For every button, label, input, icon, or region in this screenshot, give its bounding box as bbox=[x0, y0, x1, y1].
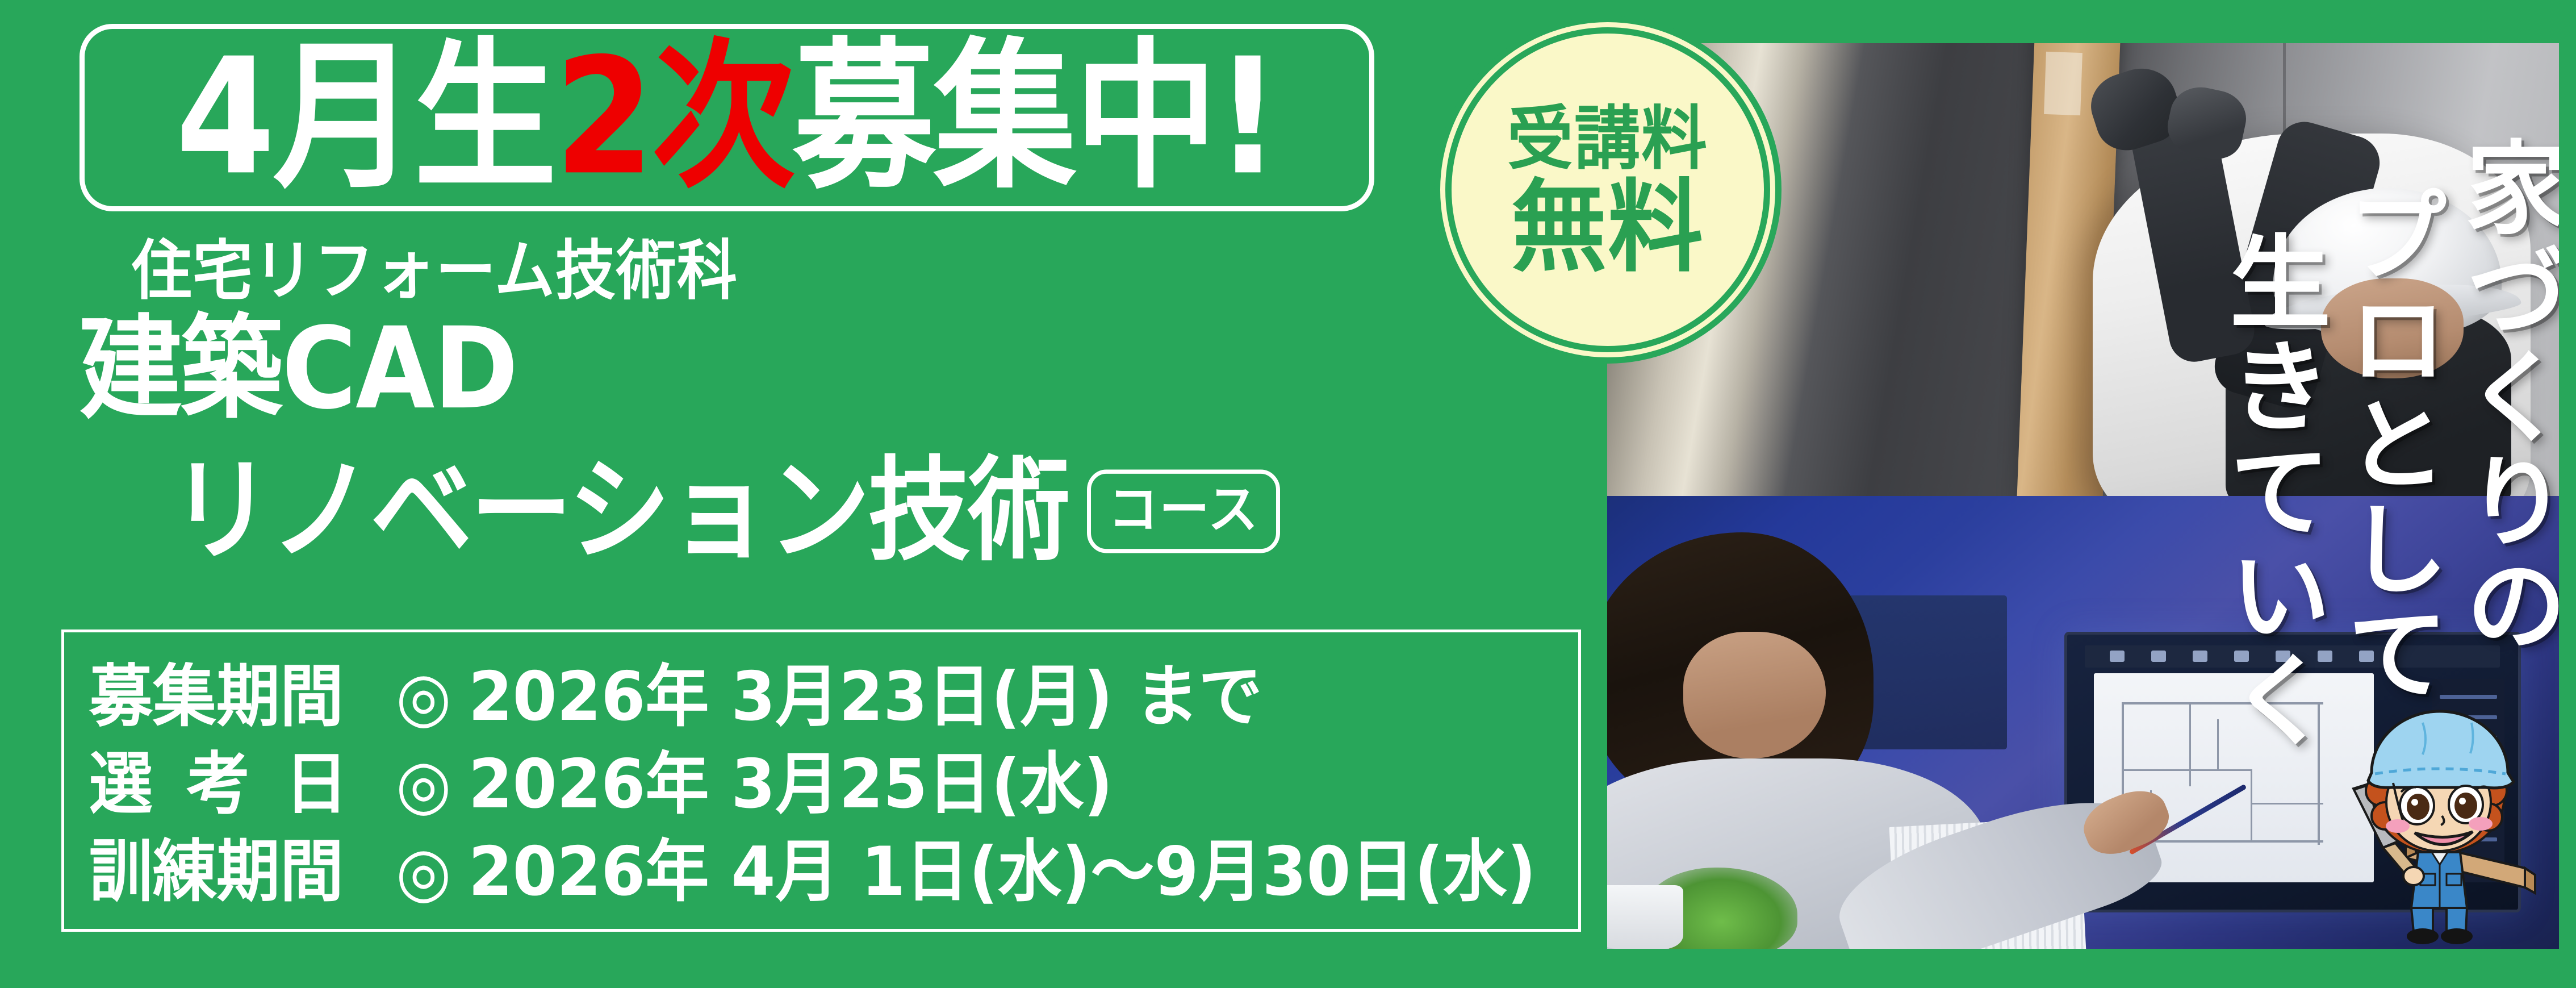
toolbar-icon bbox=[2276, 651, 2290, 662]
floorplan-line bbox=[2251, 803, 2323, 804]
headline-accent: 2次 bbox=[555, 24, 793, 210]
floorplan-line bbox=[2189, 702, 2191, 786]
schedule-label-application: 募集期間 bbox=[89, 657, 396, 737]
desk-cup bbox=[1607, 885, 1683, 949]
free-tuition-badge: 受講料 無料 bbox=[1445, 27, 1770, 352]
course-title-line2-wrap: リノベーション技術 コース bbox=[170, 460, 1280, 562]
mascot-body bbox=[2403, 852, 2473, 944]
schedule-value-selection: 2026年 3月25日(水) bbox=[469, 745, 1113, 824]
schedule-value-training: 2026年 4月 1日(水)〜9月30日(水) bbox=[469, 832, 1536, 912]
floorplan-line bbox=[2122, 769, 2251, 771]
course-title-line1: 建築CAD bbox=[80, 313, 517, 426]
toolbar-icon bbox=[2359, 651, 2374, 662]
promo-banner: 4月生2次募集中! 住宅リフォーム技術科 建築CAD リノベーション技術 コース… bbox=[0, 0, 2576, 988]
headline-part2: 募集中! bbox=[793, 24, 1278, 210]
bullet-icon: ◎ bbox=[396, 745, 451, 824]
mascot-blush-left bbox=[2386, 819, 2410, 833]
schedule-row-selection: 選考日 ◎ 2026年 3月25日(水) bbox=[89, 745, 1578, 824]
free-badge-top-label: 受講料 bbox=[1507, 103, 1708, 176]
course-title-line2: リノベーション技術 bbox=[170, 455, 1068, 568]
schedule-label-selection: 選考日 bbox=[89, 745, 396, 824]
bullet-icon: ◎ bbox=[396, 832, 451, 912]
mascot-blush-right bbox=[2469, 817, 2493, 831]
worker-face bbox=[2321, 278, 2464, 378]
cad-toolbar bbox=[2085, 645, 2500, 668]
schedule-label-training: 訓練期間 bbox=[89, 832, 396, 912]
course-type-badge: コース bbox=[1087, 470, 1280, 553]
schedule-info-box: 募集期間 ◎ 2026年 3月23日(月) まで 選考日 ◎ 2026年 3月2… bbox=[61, 630, 1581, 932]
headline-text: 4月生2次募集中! bbox=[175, 37, 1278, 198]
floorplan-line bbox=[2122, 702, 2323, 704]
toolbar-icon bbox=[2234, 651, 2249, 662]
schedule-row-application: 募集期間 ◎ 2026年 3月23日(月) まで bbox=[89, 657, 1578, 737]
schedule-row-training: 訓練期間 ◎ 2026年 4月 1日(水)〜9月30日(水) bbox=[89, 832, 1578, 912]
bullet-icon: ◎ bbox=[396, 657, 451, 737]
carpenter-girl-mascot bbox=[2337, 687, 2542, 949]
headline-box: 4月生2次募集中! bbox=[80, 24, 1374, 211]
toolbar-icon bbox=[2151, 651, 2166, 662]
floorplan-line bbox=[2217, 719, 2219, 769]
headline-part1: 4月生 bbox=[175, 24, 554, 210]
schedule-value-application: 2026年 3月23日(月) まで bbox=[469, 657, 1262, 737]
toolbar-icon bbox=[2193, 651, 2207, 662]
free-badge-main-label: 無料 bbox=[1511, 177, 1704, 277]
toolbar-icon bbox=[2318, 651, 2332, 662]
floorplan-line bbox=[2251, 769, 2252, 840]
course-kicker: 住宅リフォーム技術科 bbox=[132, 239, 738, 303]
beam-label bbox=[2044, 52, 2082, 115]
floorplan-line bbox=[2318, 702, 2320, 844]
toolbar-icon bbox=[2110, 651, 2125, 662]
